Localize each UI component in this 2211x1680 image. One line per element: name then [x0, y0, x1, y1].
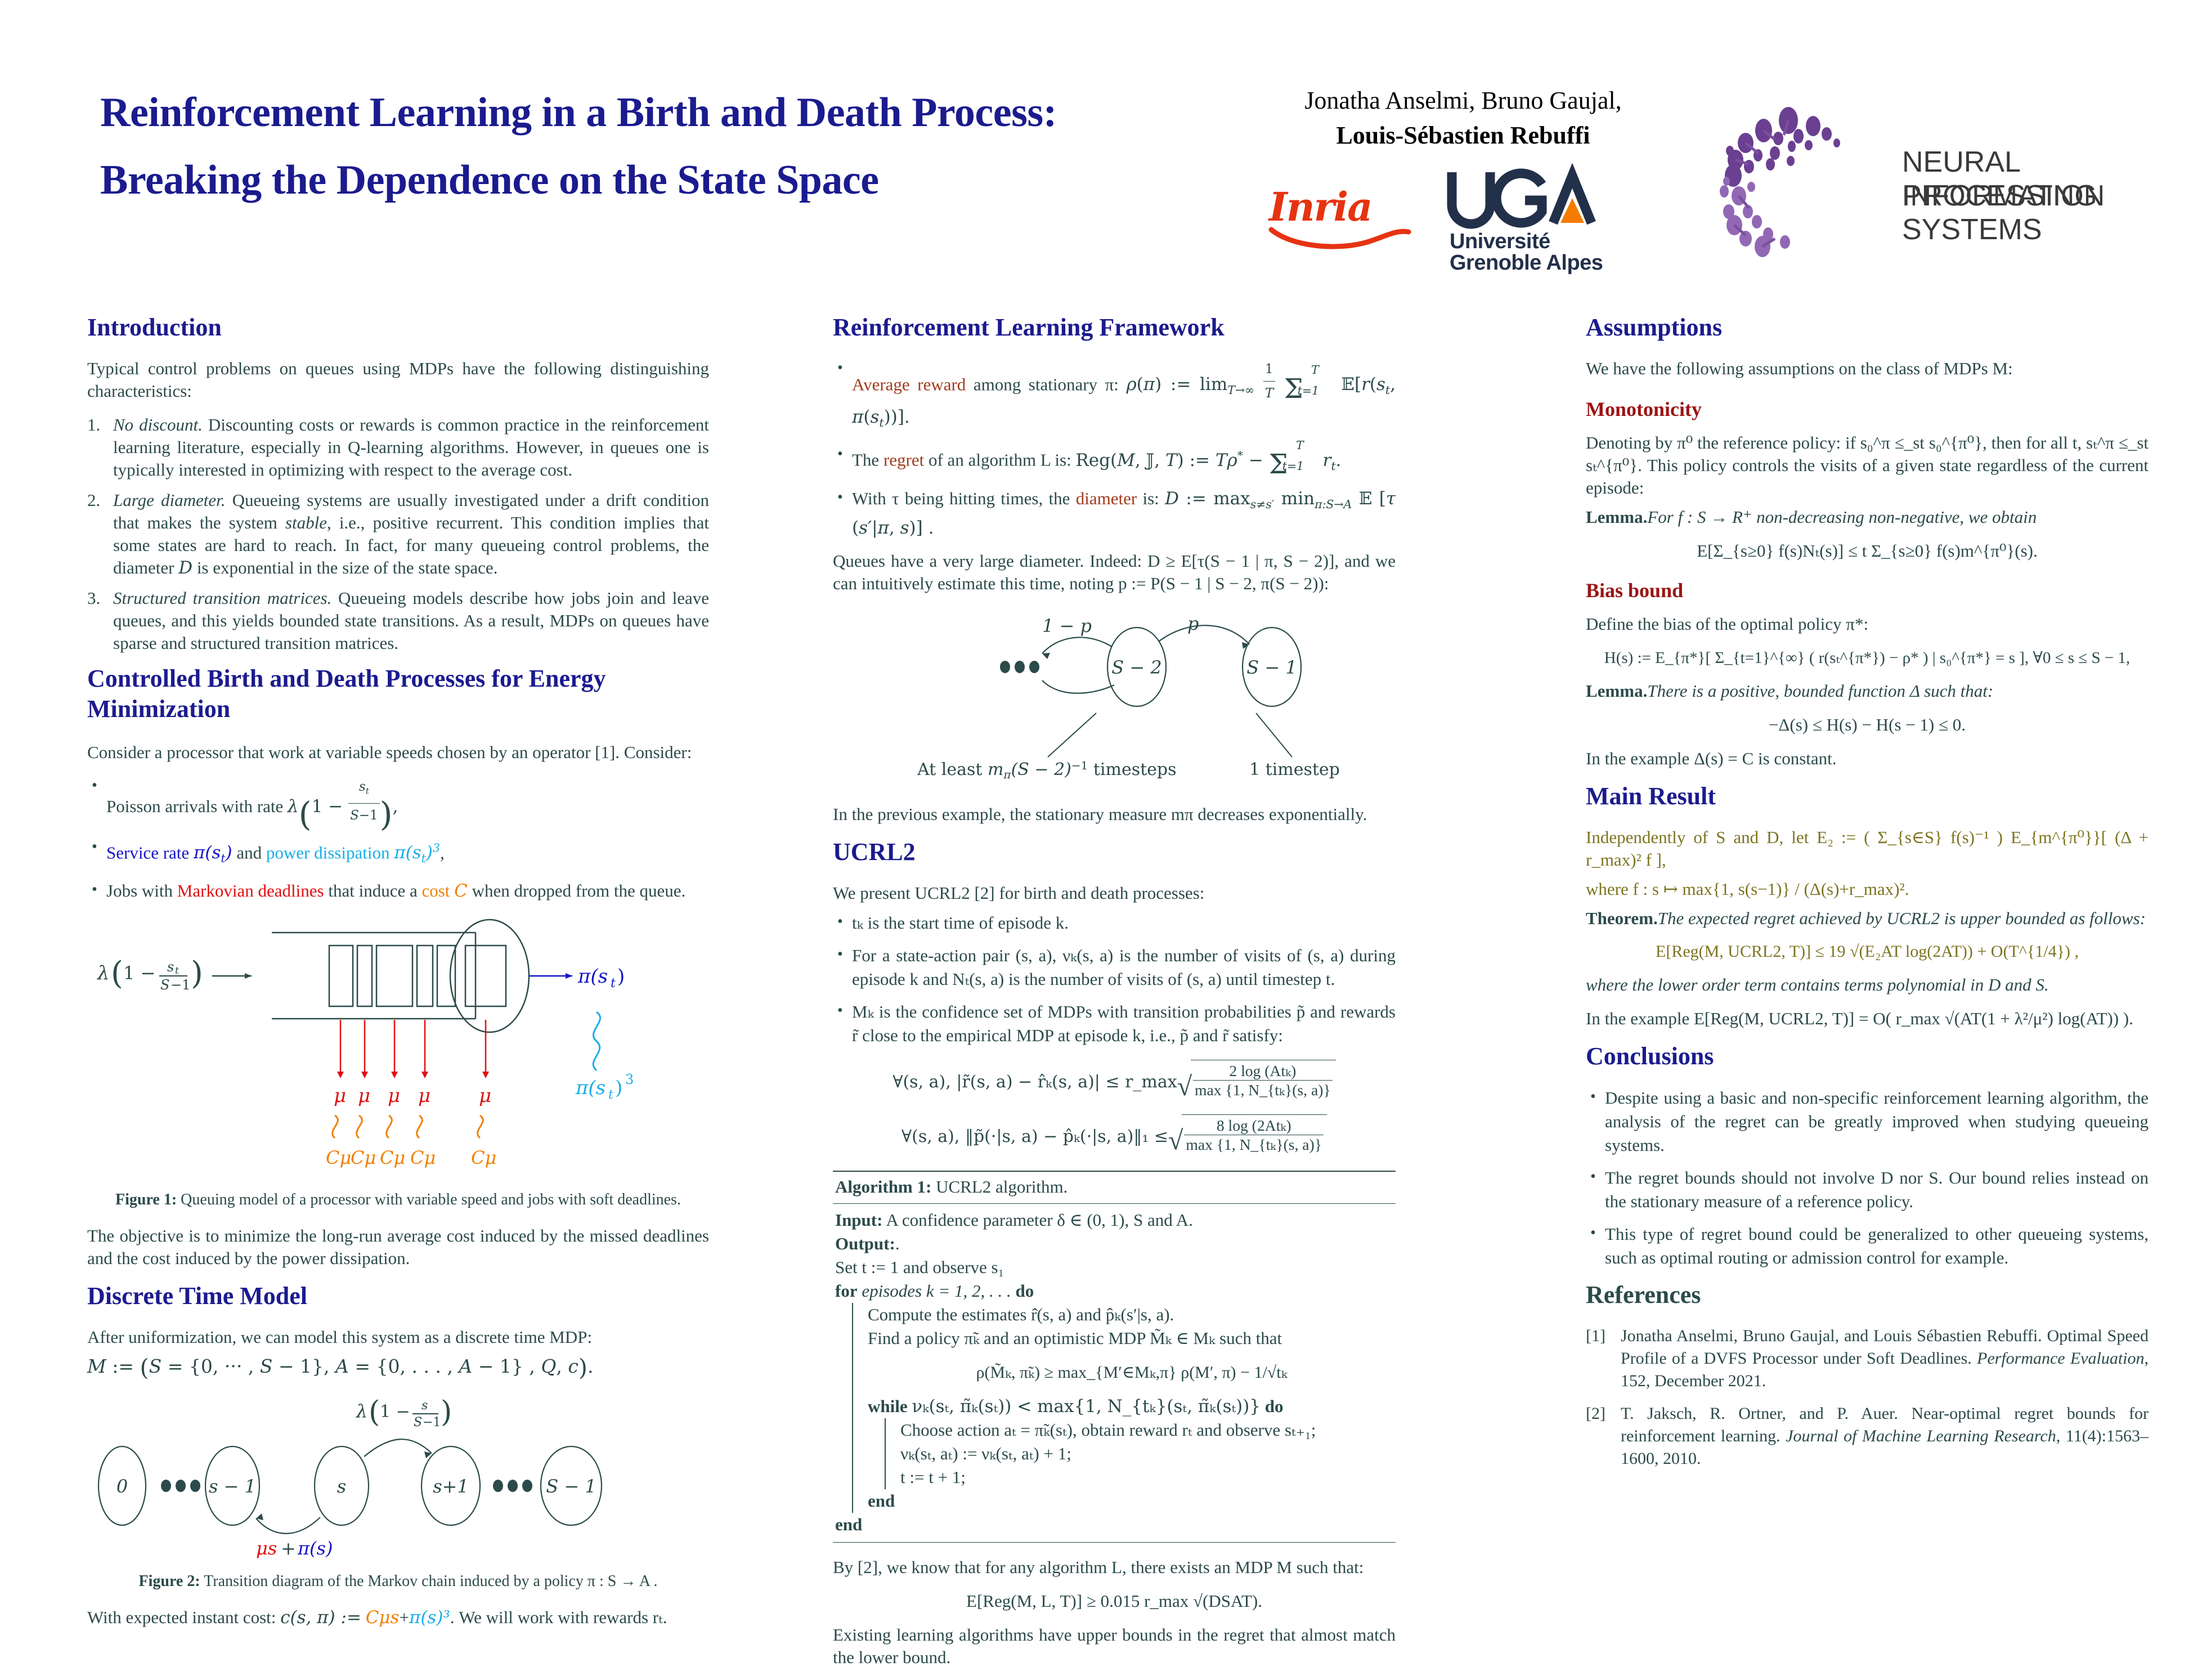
subheading-monotonicity: Monotonicity [1586, 397, 2149, 422]
chain-arc-labels: 1 − p p [1042, 613, 1199, 637]
algo-find-line: Find a policy π̃ₖ and an optimistic MDP … [868, 1327, 1396, 1350]
algo-end-inner: end [868, 1489, 1396, 1513]
svg-text:): ) [617, 965, 625, 988]
cost-plus: + [399, 1607, 409, 1627]
list-item: With τ being hitting times, the diameter… [833, 487, 1396, 540]
power-squiggle-icon [593, 1012, 600, 1070]
bias-lead: Define the bias of the optimal policy π*… [1586, 613, 2149, 635]
reward-confidence-equation: ∀(s, a), |r̃(s, a) − r̂ₖ(s, a)| ≤ r_max√… [833, 1060, 1396, 1102]
intro-paragraph: Typical control problems on queues using… [87, 357, 709, 402]
algo-for-line: for episodes k = 1, 2, . . . do [835, 1279, 1396, 1303]
algo-for-do: do [1016, 1281, 1034, 1301]
figure-2-markov-chain: λ ( 1 − s S −1 ) 0 [87, 1390, 709, 1565]
main-regret-note: where the lower order term contains term… [1586, 974, 2149, 996]
bullet-text-b: of an algorithm L is: [929, 450, 1071, 470]
algo-while-line: while νₖ(sₜ, π̃ₖ(sₜ)) < max{1, N_{tₖ}(sₜ… [868, 1395, 1396, 1418]
e2-definition: Independently of S and D, let E₂ := ( Σ_… [1586, 826, 2149, 871]
fig2-service-label: μs + π(s) [256, 1538, 333, 1559]
section-heading-references: References [1586, 1280, 2149, 1310]
lemma-text: For f : S → R⁺ non-decreasing non-negati… [1647, 507, 2037, 527]
ucrl2-bullets: tₖ is the start time of episode k. For a… [833, 911, 1396, 1047]
svg-text:s − 1: s − 1 [209, 1476, 256, 1497]
figure-2-caption-text: Transition diagram of the Markov chain i… [204, 1573, 657, 1590]
lemma-text: There is a positive, bounded function Δ … [1647, 681, 1993, 701]
service-arrow-icon [530, 973, 572, 979]
algo-header: Algorithm 1: UCRL2 algorithm. [833, 1172, 1396, 1203]
algo-output-text: . [895, 1234, 900, 1253]
svg-text:S − 1: S − 1 [546, 1476, 596, 1497]
algo-input-line: Input: A confidence parameter δ ∈ (0, 1)… [835, 1208, 1396, 1232]
bullet-text-a: With τ being hitting times, the [852, 489, 1070, 508]
lemma-label: Lemma. [1586, 681, 1647, 701]
lower-bound-tail: Existing learning algorithms have upper … [833, 1624, 1396, 1669]
author-line-1: Jonatha Anselmi, Bruno Gaujal, [1269, 83, 1657, 118]
title-line-2: Breaking the Dependence on the State Spa… [100, 146, 1259, 214]
algo-while-do: do [1265, 1396, 1284, 1416]
bullet-conj: and [236, 843, 262, 862]
service-rate-formula: π(st) [194, 843, 232, 863]
svg-text:3: 3 [625, 1072, 634, 1087]
section-heading-main-result: Main Result [1586, 781, 2149, 812]
algo-rule-bottom [833, 1542, 1396, 1543]
uga-logo: Université Grenoble Alpes [1446, 169, 1615, 265]
bias-lemma: Lemma.There is a positive, bounded funct… [1586, 680, 2149, 702]
svg-text:): ) [615, 1077, 622, 1099]
svg-text:1 −: 1 − [123, 962, 155, 984]
svg-text:S − 1: S − 1 [1246, 657, 1297, 678]
item-lead: Structured transition matrices. [113, 588, 331, 608]
eq1-numerator: 2 log (Atₖ) [1193, 1061, 1333, 1081]
mdp-definition: M := (S = {0, ··· , S − 1}, A = {0, . . … [87, 1355, 709, 1379]
lower-bound-equation: E[Reg(M, L, T)] ≥ 0.015 r_max √(DSAT). [833, 1591, 1396, 1611]
chain-loop-arc [1042, 637, 1114, 693]
intro-characteristics-list: No discount. Discounting costs or reward… [87, 414, 709, 655]
svg-text:−1: −1 [171, 977, 190, 993]
uga-line-2: Grenoble Alpes [1450, 251, 1603, 275]
bias-tail: In the example Δ(s) = C is constant. [1586, 747, 2149, 770]
figure-1-queue-diagram: λ ( 1 − s t S −1 ) [87, 913, 709, 1183]
item-lead: No discount. [113, 415, 203, 434]
cost-term-pi3: π(s)³ [409, 1607, 450, 1628]
svg-text:0: 0 [116, 1476, 128, 1497]
algo-while-label: while [868, 1396, 908, 1416]
poster-root: Reinforcement Learning in a Birth and De… [0, 0, 2211, 1562]
svg-text:Cμ: Cμ [471, 1147, 496, 1168]
neurips-dots-icon [1716, 101, 1908, 248]
figure-2-caption: Figure 2: Transition diagram of the Mark… [87, 1571, 709, 1592]
main-regret-equation: E[Reg(M, UCRL2, T)] ≤ 19 √(E₂AT log(2AT)… [1586, 942, 2149, 961]
svg-text:Cμ: Cμ [410, 1147, 436, 1168]
figure-2-label: Figure 2: [139, 1573, 200, 1590]
figure-1-label: Figure 1: [115, 1191, 177, 1208]
svg-text:μ: μ [388, 1085, 400, 1107]
cmu-squiggles [333, 1115, 483, 1138]
discrete-lead: After uniformization, we can model this … [87, 1326, 709, 1349]
bullet-markovian-deadlines: Markovian deadlines [177, 881, 324, 901]
algo-output-line: Output:. [835, 1232, 1396, 1256]
power-dissipation-formula: π(st)3 [394, 843, 440, 863]
svg-text:t: t [608, 1088, 613, 1102]
algo-title: UCRL2 algorithm. [936, 1177, 1068, 1197]
transition-confidence-equation: ∀(s, a), ‖p̃(·|s, a) − p̂ₖ(·|s, a)‖₁ ≤√8… [833, 1114, 1396, 1157]
svg-text:t: t [611, 976, 616, 991]
algo-compute-line: Compute the estimates r̂(s, a) and p̂ₖ(s… [868, 1303, 1396, 1327]
bullet-cost-label: cost [421, 881, 450, 901]
conclusions-bullets: Despite using a basic and non-specific r… [1586, 1086, 2149, 1270]
list-item: tₖ is the start time of episode k. [833, 911, 1396, 935]
algo-for-block: Compute the estimates r̂(s, a) and p̂ₖ(s… [852, 1303, 1396, 1513]
algorithm-box: Algorithm 1: UCRL2 algorithm. Input: A c… [833, 1171, 1396, 1543]
bullet-text-a: The [852, 450, 879, 470]
reference-venue: Journal of Machine Learning Research [1786, 1427, 2056, 1445]
list-item: Average reward among stationary π: ρ(π) … [833, 357, 1396, 434]
objective-paragraph: The objective is to minimize the long-ru… [87, 1225, 709, 1270]
list-item: Structured transition matrices. Queueing… [87, 587, 709, 655]
svg-text:s: s [167, 959, 174, 975]
algo-t-line: t := t + 1; [900, 1466, 1396, 1489]
main-example-line: In the example E[Reg(M, UCRL2, T)] = O( … [1586, 1007, 2149, 1030]
heading-line-1: Controlled Birth and Death Processes for… [87, 665, 606, 692]
item-text: Discounting costs or rewards is common p… [113, 415, 709, 480]
list-item: Service rate π(st) and power dissipation… [87, 836, 709, 871]
regret-note-text: where the lower order term contains term… [1586, 975, 2049, 994]
eq1-lhs: ∀(s, a), |r̃(s, a) − r̂ₖ(s, a)| ≤ r_max [893, 1072, 1177, 1092]
section-heading-assumptions: Assumptions [1586, 312, 2149, 343]
list-item: T. Jaksch, R. Ortner, and P. Auer. Near-… [1586, 1403, 2149, 1470]
svg-text:p: p [1187, 613, 1199, 634]
monotonicity-lemma: Lemma.For f : S → R⁺ non-decreasing non-… [1586, 506, 2149, 528]
svg-text:s: s [337, 1476, 346, 1497]
svg-text:s+1: s+1 [433, 1476, 469, 1497]
uga-wordmark-icon [1447, 169, 1616, 231]
chain-notes: At least mπ(S − 2)−1 timesteps 1 timeste… [917, 759, 1340, 781]
figure-1-caption-text: Queuing model of a processor with variab… [181, 1191, 681, 1208]
list-item: Jonatha Anselmi, Bruno Gaujal, and Louis… [1586, 1325, 2149, 1392]
svg-text:λ: λ [355, 1400, 367, 1422]
svg-text:1 −: 1 − [380, 1402, 410, 1422]
fig2-down-arc [256, 1513, 320, 1534]
svg-text:t: t [175, 965, 179, 976]
algo-for-range: episodes k = 1, 2, . . . [862, 1281, 1011, 1301]
lemma-label: Lemma. [1586, 507, 1647, 527]
monotonicity-equation: E[Σ_{s≥0} f(s)Nₜ(s)] ≤ t Σ_{s≥0} f(s)m^{… [1586, 541, 2149, 561]
note-right: 1 timestep [1249, 760, 1340, 779]
title-line-1: Reinforcement Learning in a Birth and De… [100, 79, 1259, 146]
neurips-logo: NEURAL INFORMATION PROCESSING SYSTEMS [1716, 101, 2110, 248]
queue-model-svg: λ ( 1 − s t S −1 ) [87, 913, 709, 1177]
algo-output-label: Output: [835, 1234, 895, 1253]
item-symbol: D [178, 558, 192, 578]
theorem-label: Theorem. [1586, 908, 1658, 928]
cost-lhs: c(s, π) := [280, 1607, 361, 1628]
chain-leader-lines [1048, 713, 1292, 757]
service-rate-output-label: π(s [577, 965, 608, 988]
mu-arrows [340, 1020, 486, 1076]
diameter-chain-svg: 1 − p p S − 2 S − 1 [833, 606, 1396, 800]
column-left: Introduction Typical control problems on… [87, 312, 709, 1640]
list-item: Despite using a basic and non-specific r… [1586, 1086, 2149, 1157]
section-heading-conclusions: Conclusions [1586, 1041, 2149, 1072]
controlled-bullets: Poisson arrivals with rate λ(1 − stS−1),… [87, 775, 709, 903]
svg-text:μ: μ [479, 1085, 491, 1107]
instant-cost-line: With expected instant cost: c(s, π) := C… [87, 1606, 709, 1629]
section-heading-introduction: Introduction [87, 312, 709, 343]
algo-input-label: Input: [835, 1210, 882, 1230]
bullet-text: Poisson arrivals with rate [106, 796, 283, 816]
arrival-arrow-icon [212, 973, 252, 979]
algo-label: Algorithm 1: [835, 1177, 931, 1197]
chain-p-arc [1159, 625, 1249, 649]
list-item: For a state-action pair (s, a), νₖ(s, a)… [833, 944, 1396, 991]
eq2-lhs: ∀(s, a), ‖p̃(·|s, a) − p̂ₖ(·|s, a)‖₁ ≤ [902, 1127, 1168, 1146]
figure-1-caption: Figure 1: Queuing model of a processor w… [87, 1190, 709, 1210]
page-title: Reinforcement Learning in a Birth and De… [100, 79, 1259, 214]
svg-text:π(s): π(s) [297, 1538, 333, 1559]
fig2-up-arc [364, 1439, 432, 1458]
power-dissipation-label: π(s [575, 1077, 606, 1099]
svg-text:Cμ: Cμ [351, 1147, 376, 1168]
section-heading-controlled: Controlled Birth and Death Processes for… [87, 664, 709, 724]
note-left: At least mπ(S − 2)−1 timesteps [917, 759, 1177, 781]
arrival-rate-label: λ ( 1 − s t S −1 ) [96, 955, 203, 993]
chain-ellipsis-dots [1000, 661, 1039, 673]
list-item: Poisson arrivals with rate λ(1 − stS−1), [87, 775, 709, 827]
fig2-arrival-label: λ ( 1 − s S −1 ) [355, 1395, 452, 1430]
cost-symbol: C [454, 881, 468, 901]
arrival-rate-formula: λ(1 − stS−1), [288, 796, 398, 817]
svg-text:μ: μ [358, 1085, 370, 1107]
regret-formula: Reg(M, 𝕁, T) := Tρ* − Σt=1T rt. [1075, 450, 1341, 471]
diameter-chain-diagram: 1 − p p S − 2 S − 1 [833, 606, 1396, 803]
svg-text:μ: μ [418, 1085, 430, 1107]
algo-input-text: A confidence parameter δ ∈ (0, 1), S and… [886, 1210, 1192, 1230]
inria-swash-icon [1269, 217, 1427, 251]
algo-for-label: for [835, 1281, 858, 1301]
list-item: No discount. Discounting costs or reward… [87, 414, 709, 481]
cost-label: With expected instant cost: [87, 1607, 276, 1627]
bullet-text-b: is: [1143, 489, 1159, 508]
subheading-bias-bound: Bias bound [1586, 578, 2149, 603]
reference-venue: Performance Evaluation [1977, 1349, 2145, 1368]
lower-bound-lead: By [2], we know that for any algorithm L… [833, 1556, 1396, 1579]
algo-set-line: Set t := 1 and observe s₁ [835, 1256, 1396, 1279]
chain-state-labels: S − 2 S − 1 [1111, 657, 1297, 678]
algo-rho-equation: ρ(M̃ₖ, π̃ₖ) ≥ max_{M′∈Mₖ,π} ρ(M′, π) − 1… [868, 1363, 1396, 1382]
svg-text:S: S [414, 1415, 422, 1430]
references-list: Jonatha Anselmi, Bruno Gaujal, and Louis… [1586, 1325, 2149, 1470]
term-diameter: diameter [1076, 489, 1137, 508]
neurips-line-2: PROCESSING SYSTEMS [1902, 179, 2110, 247]
theorem-line: Theorem.The expected regret achieved by … [1586, 907, 2149, 930]
list-item: Jobs with Markovian deadlines that induc… [87, 879, 709, 903]
eq2-denominator: max {1, N_{tₖ}(s, a)} [1184, 1135, 1324, 1154]
svg-text:+: + [281, 1538, 296, 1559]
svg-text:s: s [421, 1399, 428, 1413]
column-middle: Reinforcement Learning Framework Average… [833, 312, 1396, 1680]
markov-chain-svg: λ ( 1 − s S −1 ) 0 [87, 1390, 709, 1559]
framework-bullets: Average reward among stationary π: ρ(π) … [833, 357, 1396, 540]
algo-while-block: Choose action aₜ = π̃ₖ(sₜ), obtain rewar… [885, 1418, 1396, 1489]
algo-body: Input: A confidence parameter δ ∈ (0, 1)… [833, 1204, 1396, 1542]
bullet-text: among stationary π: [974, 374, 1119, 394]
queue-slots [329, 946, 455, 1006]
svg-text:μ: μ [334, 1085, 346, 1107]
item-emph: stable [285, 513, 327, 532]
uga-line-1: Université [1450, 230, 1550, 254]
svg-text:Cμ: Cμ [326, 1147, 351, 1168]
stationary-measure-note: In the previous example, the stationary … [833, 803, 1396, 826]
bias-equation: H(s) := E_{π*}[ Σ_{t=1}^{∞} ( r(sₜ^{π*})… [1586, 648, 2149, 667]
controlled-lead: Consider a processor that work at variab… [87, 741, 709, 764]
algo-while-condition: νₖ(sₜ, π̃ₖ(sₜ)) < max{1, N_{tₖ}(sₜ, π̃ₖ(… [912, 1396, 1261, 1417]
list-item: The regret bounds should not involve D n… [1586, 1166, 2149, 1213]
inria-logo: Inria [1269, 180, 1427, 248]
bullet-text-c: that induce a [328, 881, 417, 901]
item-lead: Large diameter. [113, 490, 226, 510]
cost-term-cmus: Cμs [366, 1607, 400, 1628]
assumptions-lead: We have the following assumptions on the… [1586, 357, 2149, 380]
bullet-text-a: Jobs with [106, 881, 173, 901]
poster-header: Reinforcement Learning in a Birth and De… [0, 0, 2211, 281]
cmu-labels: CμCμ CμCμ Cμ [326, 1147, 496, 1168]
heading-line-2: Minimization [87, 695, 230, 723]
monotonicity-text: Denoting by π⁰ the reference policy: if … [1586, 432, 2149, 499]
column-right: Assumptions We have the following assump… [1586, 312, 2149, 1480]
svg-text:): ) [441, 1395, 452, 1429]
svg-text:(: ( [111, 955, 123, 992]
section-heading-ucrl2: UCRL2 [833, 837, 1396, 867]
svg-text:−1: −1 [423, 1415, 441, 1430]
svg-text:S: S [160, 977, 169, 993]
bullet-service-rate: Service rate [106, 843, 189, 862]
svg-text:μs: μs [256, 1538, 277, 1559]
author-block: Jonatha Anselmi, Bruno Gaujal, Louis-Séb… [1269, 83, 1657, 153]
svg-text:1 − p: 1 − p [1042, 615, 1092, 637]
list-item: Large diameter. Queueing systems are usu… [87, 489, 709, 579]
svg-text:): ) [191, 955, 203, 992]
svg-text:Cμ: Cμ [380, 1147, 405, 1168]
term-independently: Independently of S and D, [1586, 827, 1783, 847]
bullet-power-dissipation: power dissipation [266, 843, 390, 862]
item-text-c: is exponential in the size of the state … [197, 558, 498, 577]
eq1-denominator: max {1, N_{tₖ}(s, a)} [1193, 1081, 1333, 1099]
algo-end-outer: end [835, 1513, 1396, 1536]
ucrl2-lead: We present UCRL2 [2] for birth and death… [833, 882, 1396, 904]
list-item: This type of regret bound could be gener… [1586, 1222, 2149, 1270]
term-regret: regret [883, 450, 924, 470]
bias-delta-equation: −Δ(s) ≤ H(s) − H(s − 1) ≤ 0. [1586, 715, 2149, 735]
svg-text:λ: λ [96, 962, 110, 984]
section-heading-rl-framework: Reinforcement Learning Framework [833, 312, 1396, 343]
list-item: Mₖ is the confidence set of MDPs with tr… [833, 1000, 1396, 1047]
svg-text:(: ( [369, 1395, 380, 1429]
bullet-text-e: when dropped from the queue. [472, 881, 686, 901]
theorem-text: The expected regret achieved by UCRL2 is… [1658, 908, 2146, 928]
algo-nu-line: νₖ(sₜ, aₜ) := νₖ(sₜ, aₜ) + 1; [900, 1442, 1396, 1466]
server-icon [450, 920, 529, 1032]
algo-choose-line: Choose action aₜ = π̃ₖ(sₜ), obtain rewar… [900, 1418, 1396, 1442]
svg-text:S − 2: S − 2 [1111, 657, 1161, 678]
mu-labels: μμ μμ μ [334, 1085, 491, 1107]
diameter-paragraph: Queues have a very large diameter. Indee… [833, 550, 1396, 595]
section-heading-discrete-time: Discrete Time Model [87, 1281, 709, 1311]
list-item: The regret of an algorithm L is: Reg(M, … [833, 443, 1396, 478]
author-line-2: Louis-Sébastien Rebuffi [1269, 118, 1657, 153]
f-definition: where f : s ↦ max{1, s(s−1)} / (Δ(s)+r_m… [1586, 878, 2149, 901]
term-average-reward: Average reward [852, 374, 966, 394]
cost-tail: . We will work with rewards rₜ. [450, 1607, 667, 1627]
eq2-numerator: 8 log (2Atₖ) [1184, 1116, 1324, 1135]
